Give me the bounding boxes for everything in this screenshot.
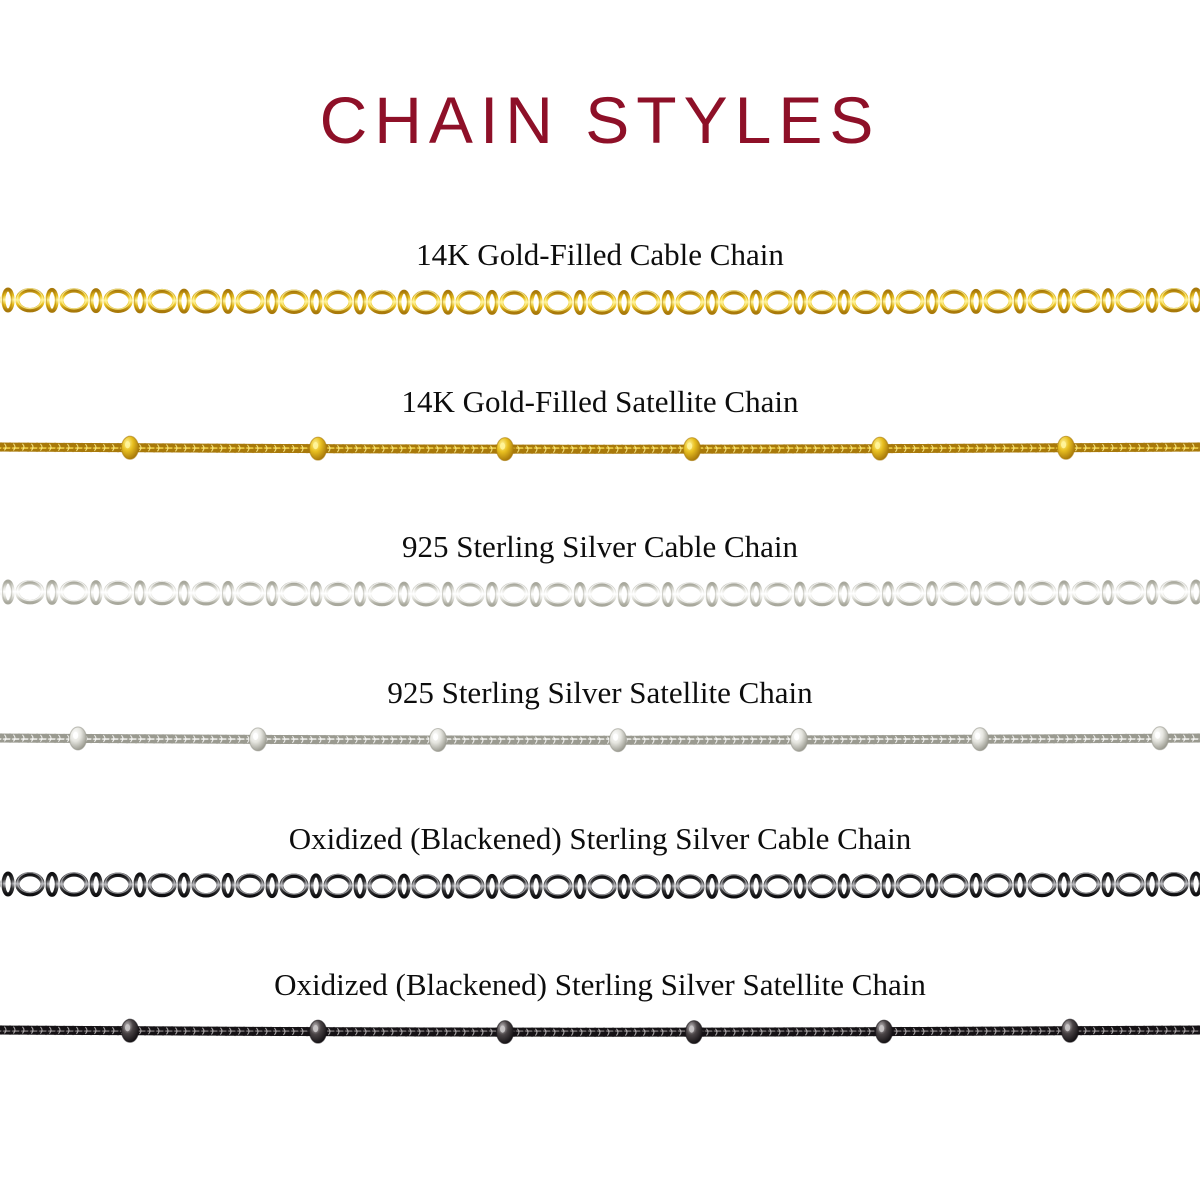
chain-label: 14K Gold-Filled Satellite Chain: [0, 383, 1200, 421]
chain-label: 14K Gold-Filled Cable Chain: [0, 236, 1200, 274]
chain-row-silver-cable: 925 Sterling Silver Cable Chain: [0, 528, 1200, 616]
chain-row-gold-satellite: 14K Gold-Filled Satellite Chain: [0, 383, 1200, 471]
chain-label: Oxidized (Blackened) Sterling Silver Cab…: [0, 820, 1200, 858]
chain-row-silver-satellite: 925 Sterling Silver Satellite Chain: [0, 674, 1200, 762]
chain-row-gold-cable: 14K Gold-Filled Cable Chain: [0, 236, 1200, 324]
chain-styles-poster: CHAIN STYLES 14K Gold-Filled Cable Chain…: [0, 0, 1200, 1200]
chain-label: 925 Sterling Silver Cable Chain: [0, 528, 1200, 566]
chain-image-gold-satellite: [0, 425, 1200, 471]
chain-image-oxidized-satellite: [0, 1008, 1200, 1054]
chain-image-silver-cable: [0, 570, 1200, 616]
chain-label: Oxidized (Blackened) Sterling Silver Sat…: [0, 966, 1200, 1004]
chain-row-oxidized-satellite: Oxidized (Blackened) Sterling Silver Sat…: [0, 966, 1200, 1054]
chain-image-gold-cable: [0, 278, 1200, 324]
chain-image-silver-satellite: [0, 716, 1200, 762]
page-title: CHAIN STYLES: [0, 82, 1200, 158]
chain-label: 925 Sterling Silver Satellite Chain: [0, 674, 1200, 712]
chain-row-oxidized-cable: Oxidized (Blackened) Sterling Silver Cab…: [0, 820, 1200, 908]
chain-image-oxidized-cable: [0, 862, 1200, 908]
